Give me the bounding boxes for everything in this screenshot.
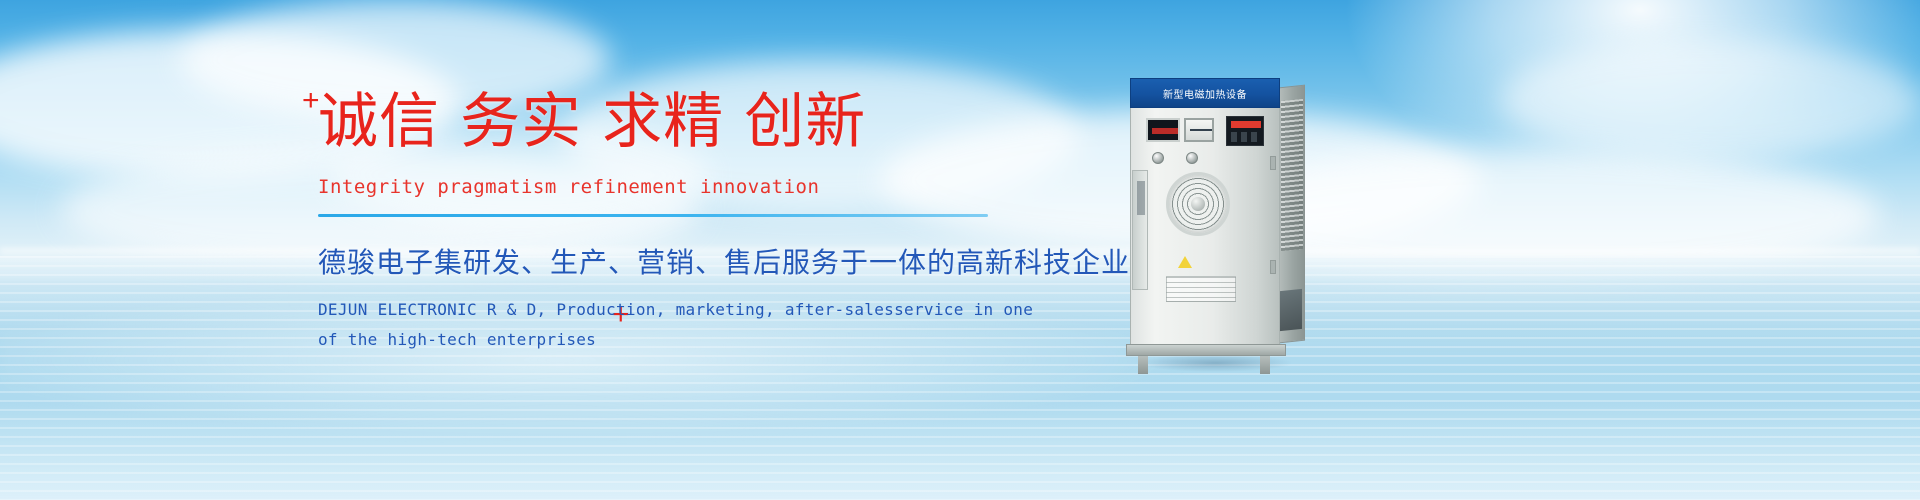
warning-label-icon <box>1178 256 1192 268</box>
analog-meter <box>1184 118 1214 142</box>
cloud-shape <box>1500 40 1920 160</box>
control-keypad <box>1226 116 1264 146</box>
banner-description: DEJUN ELECTRONIC R & D, Production, mark… <box>318 295 1058 354</box>
door-hinge <box>1270 260 1276 274</box>
plus-marker-icon: + <box>302 86 320 116</box>
banner-headline: 诚信 务实 求精 创新 <box>318 92 1058 152</box>
control-knob <box>1152 152 1164 164</box>
banner-copy: 诚信 务实 求精 创新 Integrity pragmatism refinem… <box>318 92 1058 354</box>
side-accent-panel <box>1280 289 1302 331</box>
product-label-plate: 新型电磁加热设备 <box>1130 78 1280 108</box>
product-label-text: 新型电磁加热设备 <box>1163 86 1247 101</box>
side-strip-panel <box>1132 170 1148 290</box>
banner-subtitle: 德骏电子集研发、生产、营销、售后服务于一体的高新科技企业 <box>318 241 1058 281</box>
vent-grille <box>1281 99 1303 251</box>
description-line-2: of the high-tech enterprises <box>318 325 1058 355</box>
cabinet-base <box>1126 344 1286 356</box>
description-line-1: DEJUN ELECTRONIC R & D, Production, mark… <box>318 295 1058 325</box>
cabinet-leg <box>1138 356 1148 374</box>
banner-tagline: Integrity pragmatism refinement innovati… <box>318 176 1058 198</box>
divider <box>318 214 988 217</box>
digital-display <box>1146 118 1180 142</box>
cabinet-leg <box>1260 356 1270 374</box>
door-hinge <box>1270 156 1276 170</box>
product-image-heating-machine: 新型电磁加热设备 <box>1122 60 1310 360</box>
fan-grille-icon <box>1166 172 1230 236</box>
control-knob <box>1186 152 1198 164</box>
spec-plate <box>1166 276 1236 302</box>
promo-banner: + + 诚信 务实 求精 创新 Integrity pragmatism ref… <box>0 0 1920 500</box>
